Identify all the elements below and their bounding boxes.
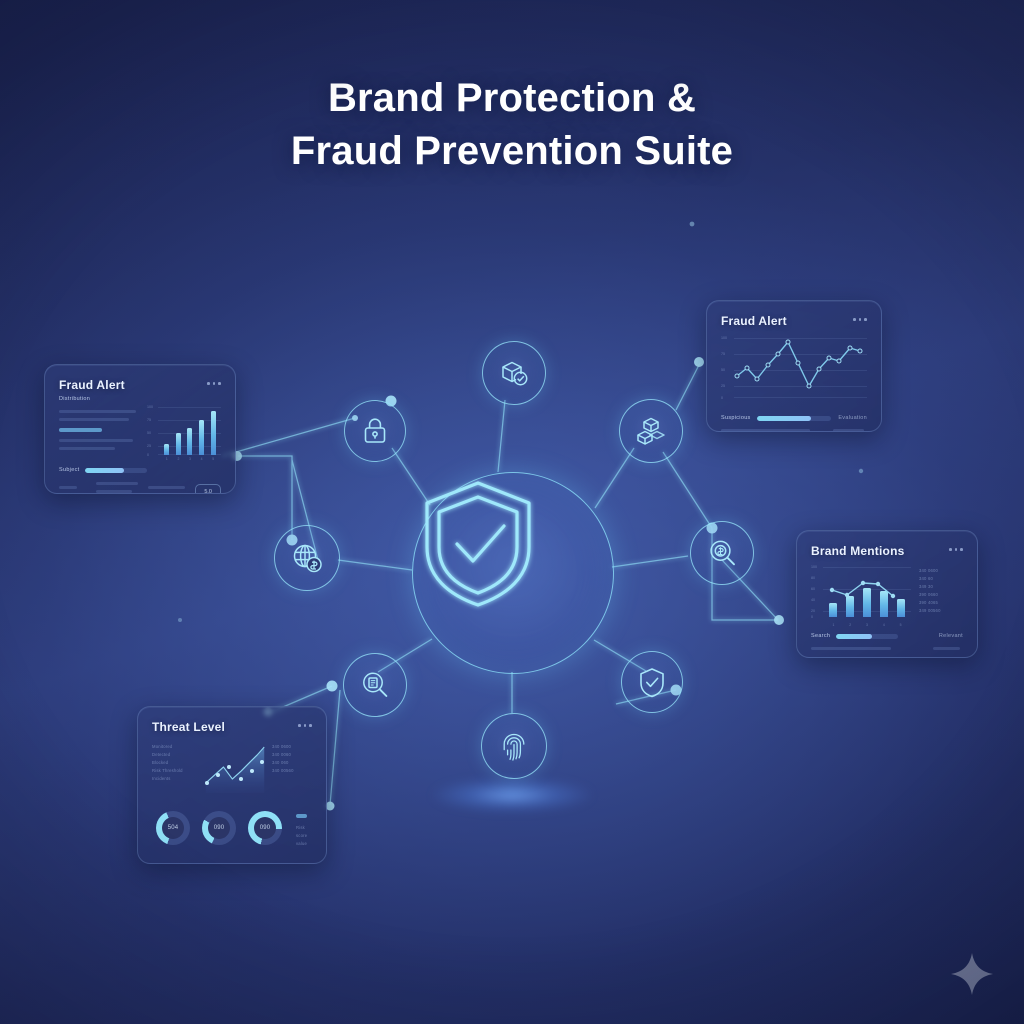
- card-fraud-alert-top[interactable]: Fraud Alert 10075 5025 0: [706, 300, 882, 432]
- shield-check-icon: [413, 473, 543, 613]
- node-document-scan[interactable]: [343, 653, 407, 717]
- card-fraud-alert-left[interactable]: Fraud Alert Distribution 10075 5025: [44, 364, 236, 494]
- more-horizontal-icon[interactable]: [207, 378, 221, 385]
- card-footer-label: Suspicious: [721, 415, 751, 421]
- gauge-note: Risk score value: [296, 824, 312, 848]
- card-brand-mentions[interactable]: Brand Mentions 10080 6040 200: [796, 530, 978, 658]
- node-package-verified[interactable]: [482, 341, 546, 405]
- node-biometrics[interactable]: [481, 713, 547, 779]
- progress-bar: [85, 468, 147, 473]
- action-button[interactable]: 5.0: [195, 484, 221, 495]
- card-subhead: Distribution: [59, 396, 221, 402]
- card-title: Fraud Alert: [721, 314, 787, 328]
- more-horizontal-icon[interactable]: [853, 314, 867, 321]
- row-value: 340 0060: [272, 751, 312, 759]
- shield-check-small-icon: [637, 666, 667, 698]
- line-chart: 10075 5025 0: [721, 336, 867, 408]
- gauge-row: 504 090 090 Risk score value: [152, 809, 312, 848]
- row-label: Incidents: [152, 775, 198, 783]
- gauge-2[interactable]: 090: [248, 811, 282, 845]
- legend-item: 390 0660: [919, 591, 963, 599]
- package-check-icon: [498, 357, 530, 389]
- sparkle-icon: [950, 952, 994, 996]
- legend-item: 349 00560: [919, 607, 963, 615]
- more-horizontal-icon[interactable]: [949, 544, 963, 551]
- card-footer-right: Relevant: [939, 633, 963, 639]
- row-value: 340 00560: [272, 767, 312, 775]
- magnifier-coin-icon: [706, 537, 738, 569]
- fingerprint-icon: [498, 728, 530, 764]
- threat-right-rows: 340 0600 340 0060 340 060 340 00560: [272, 743, 312, 793]
- node-global-payment[interactable]: [274, 525, 340, 591]
- threat-left-rows: Monitored Detected Blocked Risk Threshol…: [152, 743, 198, 793]
- more-horizontal-icon[interactable]: [298, 720, 312, 727]
- node-identity-shield[interactable]: [621, 651, 683, 713]
- row-label: Detected: [152, 751, 198, 759]
- card-footer-right: Evaluation: [838, 415, 867, 421]
- row-value: 340 060: [272, 759, 312, 767]
- card-title: Threat Level: [152, 720, 225, 734]
- gauge-0[interactable]: 504: [156, 811, 190, 845]
- card-title: Brand Mentions: [811, 544, 904, 558]
- node-blockchain[interactable]: [619, 399, 683, 463]
- row-label: Monitored: [152, 743, 198, 751]
- card-footer-label: Search: [811, 633, 830, 639]
- chart-legend: 340 0600 340 60 349 30 390 0660 390 4065…: [919, 565, 963, 627]
- hub-glow: [432, 778, 592, 812]
- card-title: Fraud Alert: [59, 378, 125, 392]
- legend-item: 349 30: [919, 583, 963, 591]
- progress-bar: [836, 634, 898, 639]
- bar-chart: [161, 407, 219, 455]
- globe-badge-icon: [290, 541, 324, 575]
- row-value: 340 0600: [272, 743, 312, 751]
- node-lock[interactable]: [344, 400, 406, 462]
- area-chart: [204, 743, 266, 793]
- legend-item: 340 0600: [919, 567, 963, 575]
- gauge-1[interactable]: 090: [202, 811, 236, 845]
- lock-icon: [361, 416, 389, 446]
- node-transaction-scan[interactable]: [690, 521, 754, 585]
- magnifier-doc-icon: [359, 669, 391, 701]
- central-hub[interactable]: [412, 472, 614, 674]
- row-label: Blocked: [152, 759, 198, 767]
- poster-canvas: Brand Protection & Fraud Prevention Suit…: [0, 0, 1024, 1024]
- legend-item: 340 60: [919, 575, 963, 583]
- row-label: Risk Threshold: [152, 767, 198, 775]
- combo-chart: 10080 6040 200: [811, 565, 911, 627]
- legend-item: 390 4065: [919, 599, 963, 607]
- card-footer-label: Subject: [59, 467, 79, 473]
- progress-bar: [757, 416, 831, 421]
- stacked-cubes-icon: [635, 415, 667, 447]
- card-threat-level[interactable]: Threat Level Monitored Detected Blocked …: [137, 706, 327, 864]
